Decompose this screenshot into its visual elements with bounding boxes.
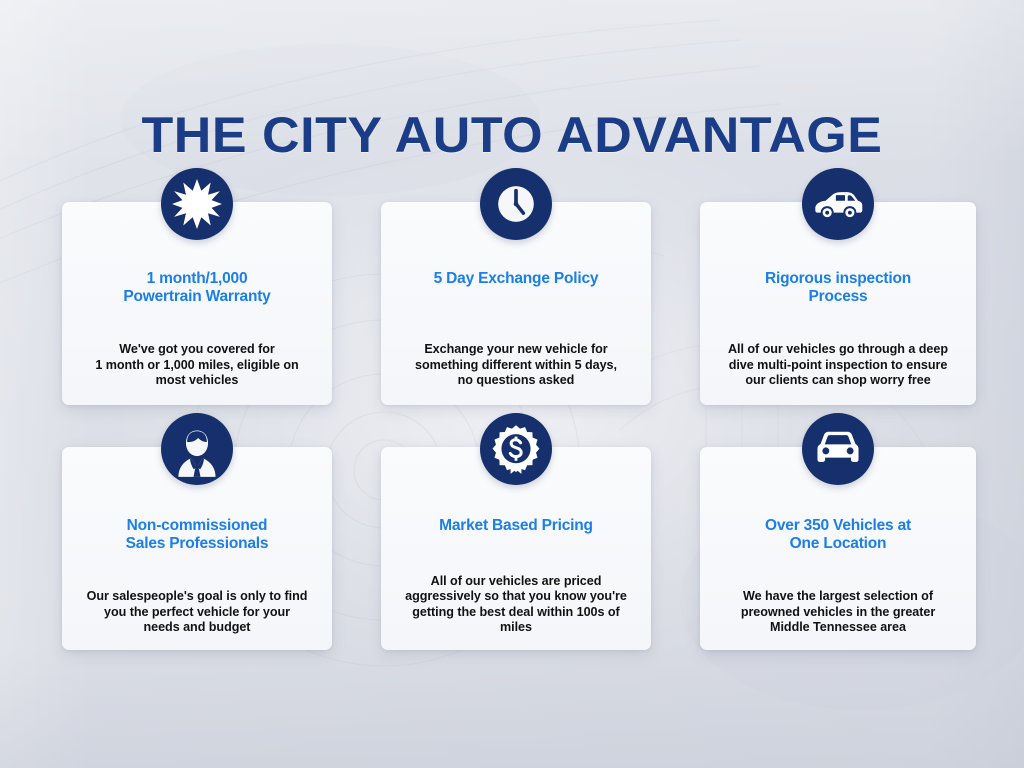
- car-side-icon: [802, 168, 874, 240]
- advantage-card-grid: 1 month/1,000 Powertrain Warranty We've …: [62, 202, 976, 650]
- advantage-card: Rigorous inspection Process All of our v…: [700, 202, 976, 405]
- card-body: Exchange your new vehicle for something …: [415, 342, 617, 389]
- advantage-card: Over 350 Vehicles at One Location We hav…: [700, 447, 976, 650]
- card-title: Rigorous inspection Process: [765, 270, 911, 306]
- card-title: Non-commissioned Sales Professionals: [126, 517, 269, 553]
- card-body: All of our vehicles are priced aggressiv…: [395, 574, 637, 636]
- card-title: 5 Day Exchange Policy: [434, 270, 599, 288]
- starburst-icon: [161, 168, 233, 240]
- card-body: Our salespeople's goal is only to find y…: [87, 589, 308, 636]
- dollar-badge-icon: [480, 413, 552, 485]
- clock-icon: [480, 168, 552, 240]
- card-body: We've got you covered for 1 month or 1,0…: [95, 342, 298, 389]
- card-body: We have the largest selection of preowne…: [741, 589, 935, 636]
- page-title: THE CITY AUTO ADVANTAGE: [0, 106, 1024, 164]
- salesperson-icon: [161, 413, 233, 485]
- advantage-infographic: THE CITY AUTO ADVANTAGE 1 month/1,000 Po…: [0, 0, 1024, 768]
- card-title: Over 350 Vehicles at One Location: [765, 517, 911, 553]
- card-body: All of our vehicles go through a deep di…: [728, 342, 948, 389]
- advantage-card: 1 month/1,000 Powertrain Warranty We've …: [62, 202, 332, 405]
- card-title: 1 month/1,000 Powertrain Warranty: [123, 270, 270, 306]
- advantage-card: Market Based Pricing All of our vehicles…: [381, 447, 651, 650]
- car-front-icon: [802, 413, 874, 485]
- advantage-card: Non-commissioned Sales Professionals Our…: [62, 447, 332, 650]
- advantage-card: 5 Day Exchange Policy Exchange your new …: [381, 202, 651, 405]
- card-title: Market Based Pricing: [439, 517, 593, 535]
